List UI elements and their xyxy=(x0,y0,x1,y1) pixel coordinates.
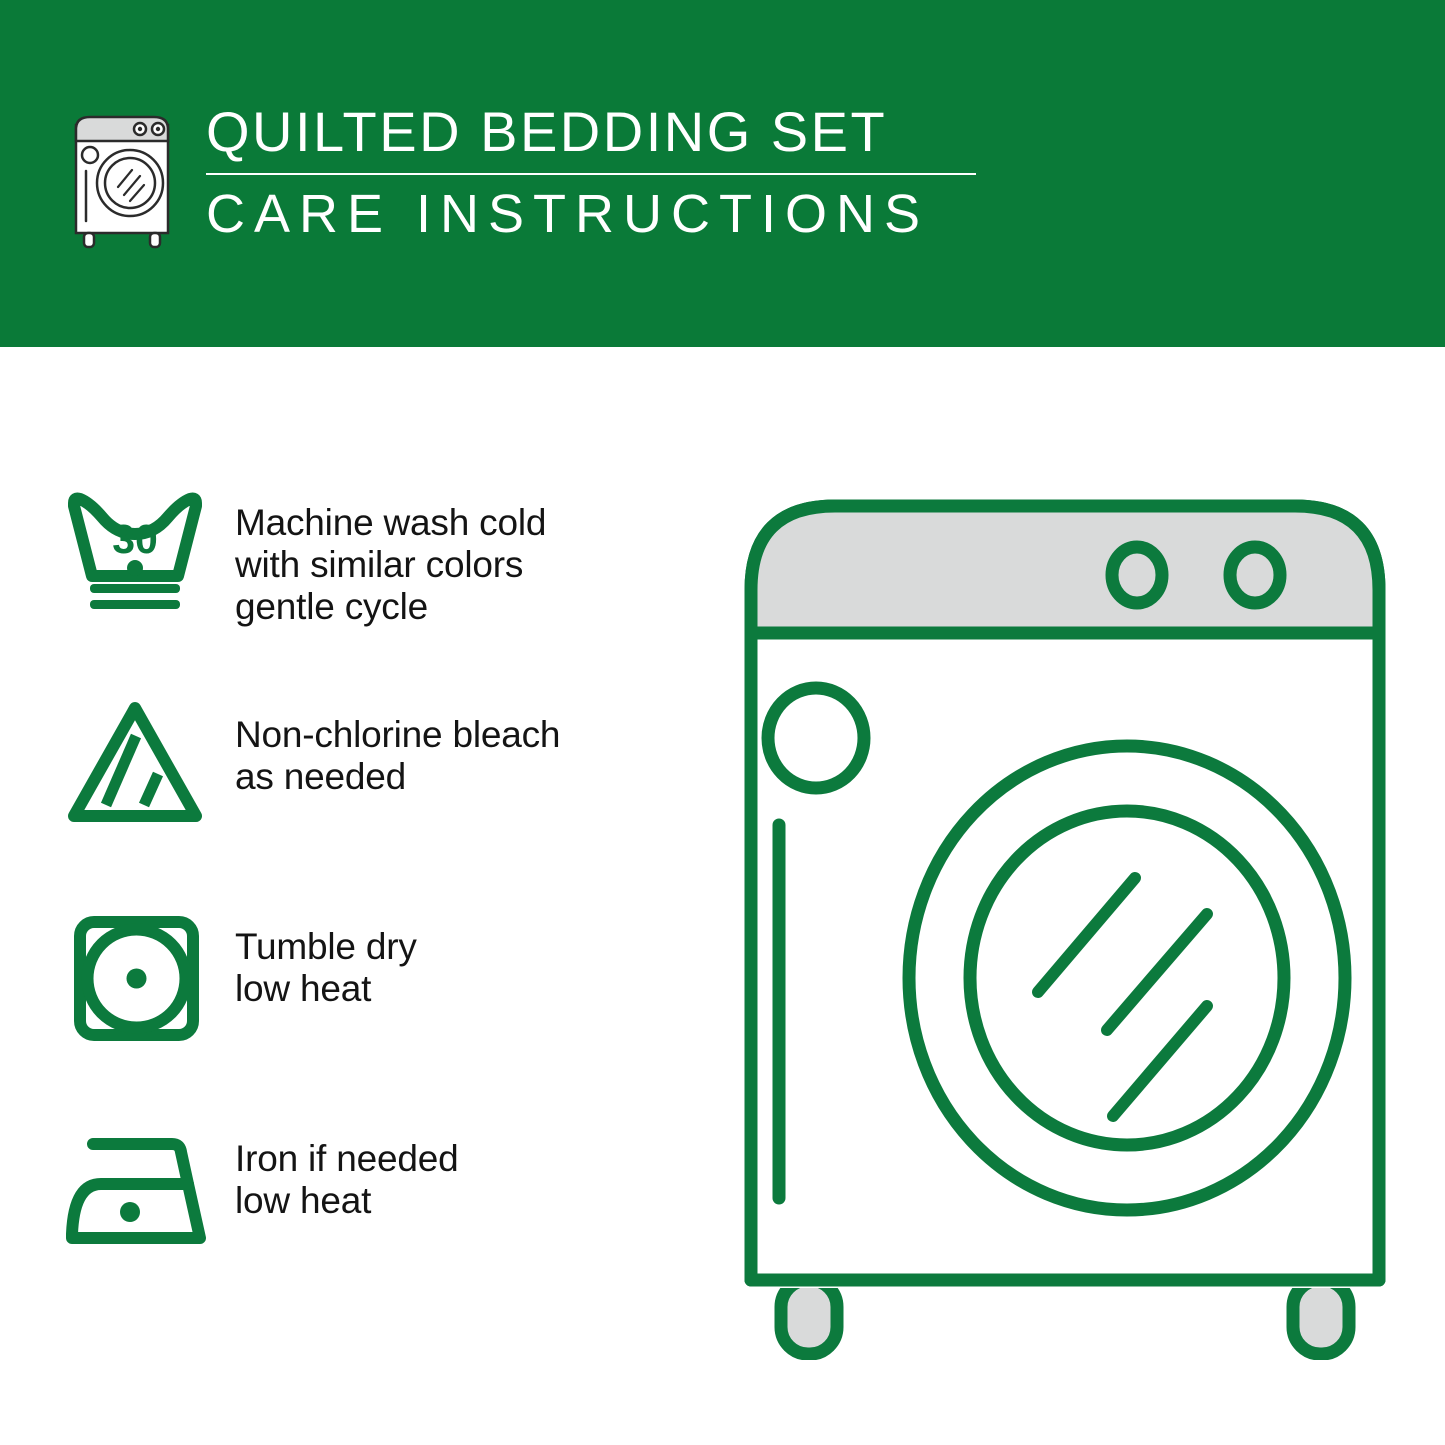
tumble-dry-dot xyxy=(127,969,147,989)
care-row-machine-wash: 30 Machine wash cold with similar colors… xyxy=(60,480,700,692)
care-line: Iron if needed xyxy=(235,1138,700,1180)
care-line: gentle cycle xyxy=(235,586,700,628)
iron-icon xyxy=(60,1116,235,1266)
title-divider xyxy=(206,173,976,175)
front-load-washing-machine-illustration xyxy=(715,470,1415,1360)
page-title: QUILTED BEDDING SET xyxy=(206,101,976,163)
detergent-dispenser xyxy=(768,688,864,788)
header-title-block: QUILTED BEDDING SET CARE INSTRUCTIONS xyxy=(206,95,976,245)
care-line: as needed xyxy=(235,756,700,798)
care-instructions-infographic: QUILTED BEDDING SET CARE INSTRUCTIONS 30… xyxy=(0,0,1445,1445)
wash-tub-icon: 30 xyxy=(60,480,235,630)
care-line: Non-chlorine bleach xyxy=(235,714,700,756)
care-text-iron: Iron if needed low heat xyxy=(235,1116,700,1222)
iron-dot xyxy=(120,1202,140,1222)
page-subtitle: CARE INSTRUCTIONS xyxy=(206,183,976,245)
bleach-triangle-icon xyxy=(60,692,235,842)
tumble-dry-icon xyxy=(60,904,235,1054)
care-instruction-list: 30 Machine wash cold with similar colors… xyxy=(60,480,700,1328)
care-line: Machine wash cold xyxy=(235,502,700,544)
leg-left xyxy=(781,1280,837,1354)
header-band: QUILTED BEDDING SET CARE INSTRUCTIONS xyxy=(0,0,1445,347)
care-text-tumble-dry: Tumble dry low heat xyxy=(235,904,700,1010)
care-text-machine-wash: Machine wash cold with similar colors ge… xyxy=(235,480,700,628)
leg-right xyxy=(1293,1280,1349,1354)
care-row-tumble-dry: Tumble dry low heat xyxy=(60,904,700,1116)
washing-machine-icon xyxy=(62,95,182,255)
knob-right xyxy=(1230,547,1280,603)
header-content: QUILTED BEDDING SET CARE INSTRUCTIONS xyxy=(62,95,976,255)
care-line: low heat xyxy=(235,968,700,1010)
care-row-bleach: Non-chlorine bleach as needed xyxy=(60,692,700,904)
care-text-bleach: Non-chlorine bleach as needed xyxy=(235,692,700,798)
care-line: with similar colors xyxy=(235,544,700,586)
care-row-iron: Iron if needed low heat xyxy=(60,1116,700,1328)
care-line: Tumble dry xyxy=(235,926,700,968)
care-line: low heat xyxy=(235,1180,700,1222)
wash-dot xyxy=(127,560,143,576)
wash-temperature-label: 30 xyxy=(112,516,158,562)
knob-left xyxy=(1112,547,1162,603)
